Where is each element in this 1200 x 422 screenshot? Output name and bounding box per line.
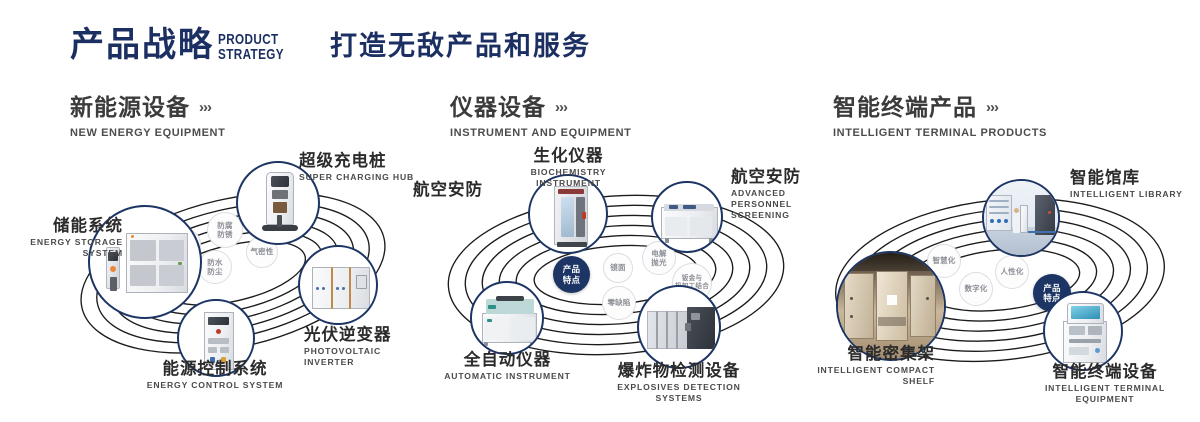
node-intelligent-library[interactable] xyxy=(982,179,1060,257)
node-automatic-instrument[interactable] xyxy=(470,281,544,355)
label-photovoltaic-inverter: 光伏逆变器 PHOTOVOLTAIC INVERTER xyxy=(304,326,415,368)
feature-bubble: 零缺陷 xyxy=(602,286,636,320)
chevrons-right-icon: ››› xyxy=(986,100,998,115)
chevrons-right-icon: ››› xyxy=(555,100,567,115)
section-title-intelligent-terminal: 智能终端产品››› INTELLIGENT TERMINAL PRODUCTS xyxy=(833,96,1047,139)
label-intelligent-compact-shelf: 智能密集架 INTELLIGENT COMPACT SHELF xyxy=(805,345,935,387)
section-title-cn: 新能源设备››› xyxy=(70,96,225,119)
label-aviation-security: 航空安防 xyxy=(413,181,483,199)
page-title-en: PRODUCT STRATEGY xyxy=(218,32,284,63)
intelligent-compact-shelf-image xyxy=(838,253,944,359)
section-title-cn: 智能终端产品››› xyxy=(833,96,1047,119)
photovoltaic-inverter-image xyxy=(300,247,376,323)
page-title: 产品战略 xyxy=(70,28,214,62)
feature-bubble: 镜面 xyxy=(603,253,633,283)
section-title-instrument: 仪器设备››› INSTRUMENT AND EQUIPMENT xyxy=(450,96,631,139)
label-advanced-personnel-screening: 航空安防 ADVANCED PERSONNEL SCREENING xyxy=(731,168,810,221)
section-title-en: INTELLIGENT TERMINAL PRODUCTS xyxy=(833,127,1047,139)
label-automatic-instrument: 全自动仪器 AUTOMATIC INSTRUMENT xyxy=(441,351,574,382)
section-title-cn: 仪器设备››› xyxy=(450,96,631,119)
node-intelligent-terminal-equipment[interactable] xyxy=(1043,291,1123,371)
label-energy-storage-system: 储能系统 ENERGY STORAGE SYSTEM xyxy=(15,217,123,259)
label-intelligent-terminal-equipment: 智能终端设备 INTELLIGENT TERMINAL EQUIPMENT xyxy=(1020,363,1190,405)
explosives-detection-systems-image xyxy=(639,287,719,367)
chevrons-right-icon: ››› xyxy=(199,100,211,115)
feature-bubble: 防水 防尘 xyxy=(198,250,232,284)
intelligent-terminal-equipment-image xyxy=(1045,293,1121,369)
label-intelligent-library: 智能馆库 INTELLIGENT LIBRARY xyxy=(1070,169,1183,200)
node-photovoltaic-inverter[interactable] xyxy=(298,245,378,325)
page-subtitle: 打造无敌产品和服务 xyxy=(330,33,591,60)
advanced-personnel-screening-image xyxy=(653,183,721,251)
product-strategy-infographic: 产品战略 PRODUCT STRATEGY 打造无敌产品和服务 新能源设备›››… xyxy=(0,0,1200,422)
label-explosives-detection-systems: 爆炸物检测设备 EXPLOSIVES DETECTION SYSTEMS xyxy=(601,362,757,404)
section-title-en: NEW ENERGY EQUIPMENT xyxy=(70,127,225,139)
cluster-new-energy: 户外 防腐 防锈 防水 防尘 气密性 产品 特点 储能系统 ENERGY S xyxy=(55,155,415,385)
core-bubble: 产品 特点 xyxy=(553,256,590,293)
intelligent-library-image xyxy=(984,181,1058,255)
feature-bubble: 人性化 xyxy=(995,255,1029,289)
node-advanced-personnel-screening[interactable] xyxy=(651,181,723,253)
label-biochemistry-instrument: 生化仪器 BIOCHEMISTRY INSTRUMENT xyxy=(506,147,631,189)
label-super-charging-hub: 超级充电桩 SUPER CHARGING HUB xyxy=(299,152,414,183)
section-title-new-energy: 新能源设备››› NEW ENERGY EQUIPMENT xyxy=(70,96,225,139)
cluster-intelligent-terminal: 智慧化 数字化 人性化 产品 特点 xyxy=(815,155,1200,395)
automatic-instrument-image xyxy=(472,283,542,353)
label-energy-control-system: 能源控制系统 ENERGY CONTROL SYSTEM xyxy=(130,360,300,391)
cluster-instrument: 产品 特点 镜面 电解 抛光 零缺陷 钣金与 机加工结合 航空安防 生化仪器 B… xyxy=(420,155,810,390)
node-explosives-detection-systems[interactable] xyxy=(637,285,721,369)
section-title-en: INSTRUMENT AND EQUIPMENT xyxy=(450,127,631,139)
feature-bubble: 数字化 xyxy=(959,272,993,306)
